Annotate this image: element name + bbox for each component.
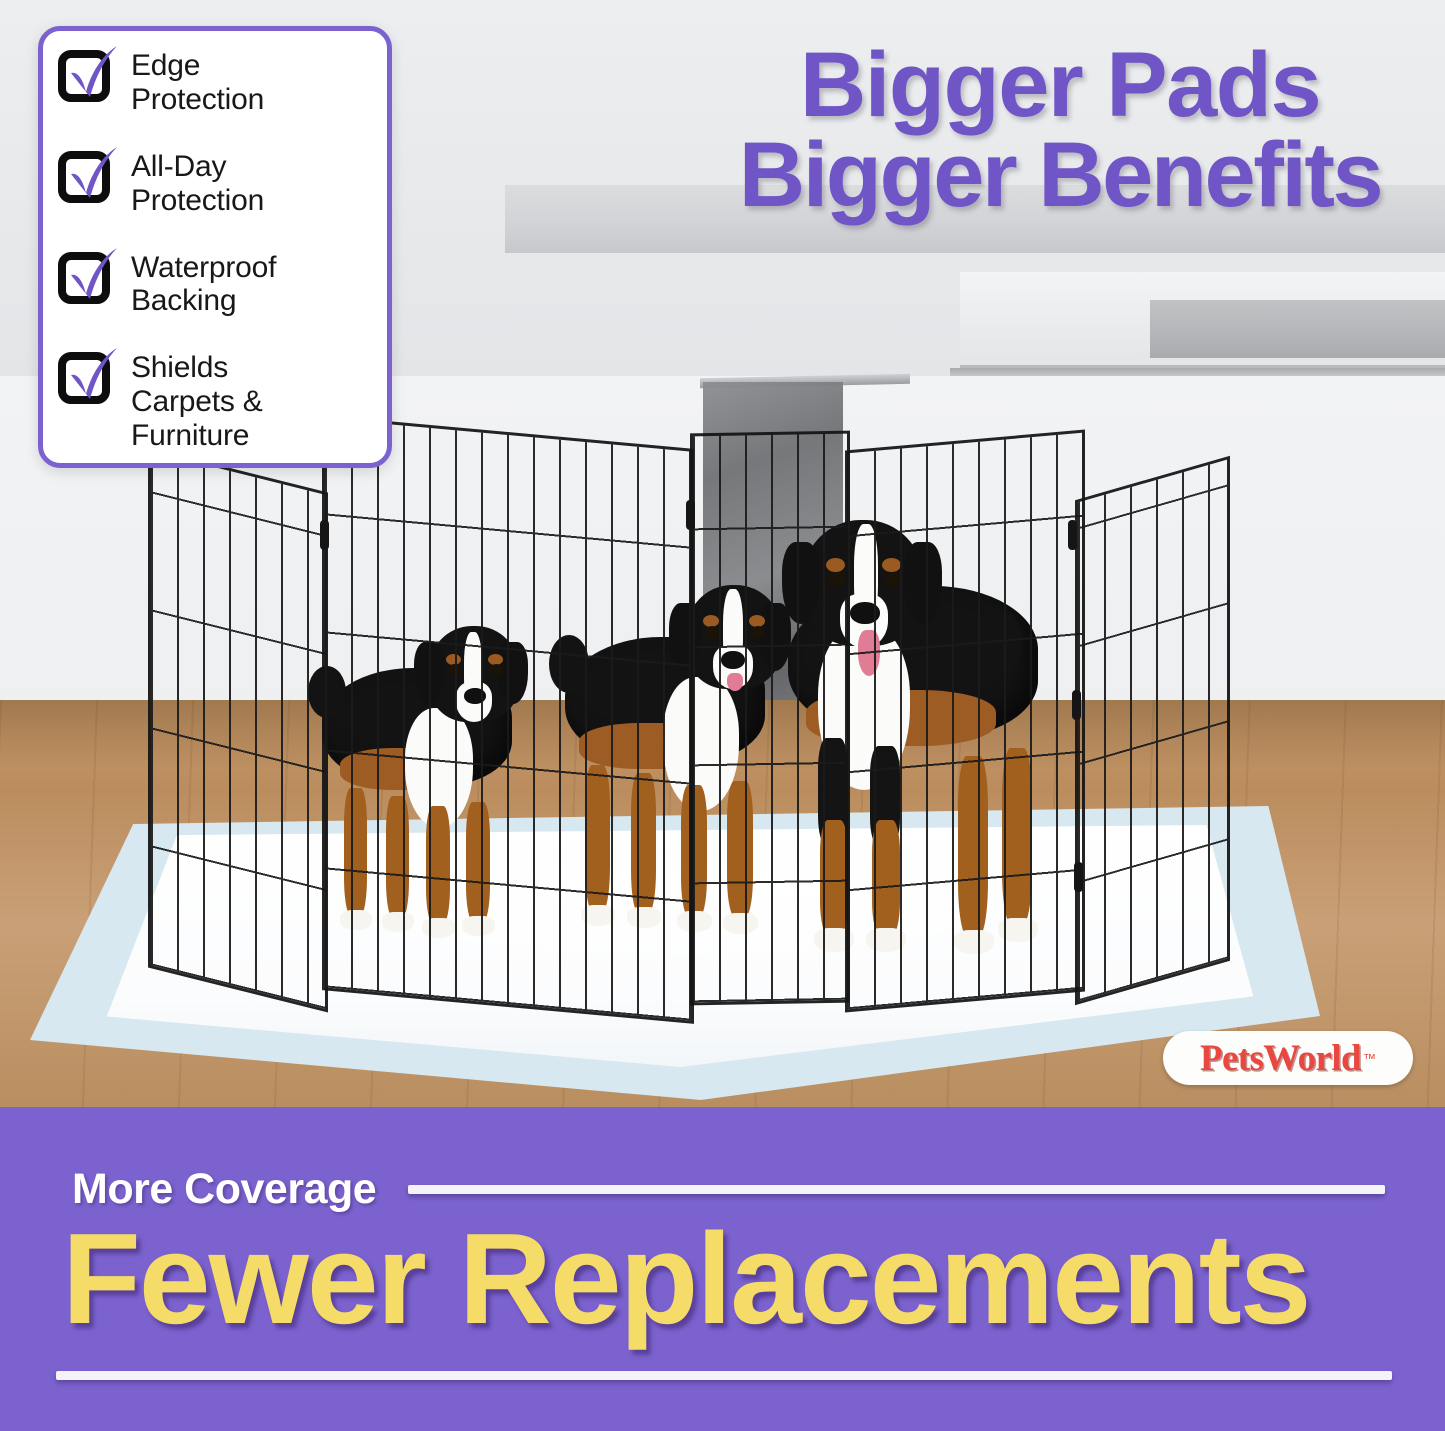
playpen-panel-5 <box>1075 456 1230 1005</box>
checkbox-check-icon <box>61 351 117 407</box>
playpen-panel-1 <box>148 448 328 1013</box>
brand-logo: PetsWorld™ <box>1163 1031 1413 1085</box>
feature-label: ShieldsCarpets &Furniture <box>131 349 263 453</box>
checkbox-check-icon <box>61 49 117 105</box>
playpen-hinge <box>320 520 329 550</box>
playpen-hinge <box>1074 862 1083 892</box>
banner-headline: Fewer Replacements <box>62 1215 1392 1344</box>
feature-list-card: EdgeProtection All-DayProtection Waterpr… <box>38 26 392 468</box>
playpen-hinge <box>686 500 695 530</box>
feature-label: WaterproofBacking <box>131 249 276 319</box>
headline-line-1: Bigger Pads <box>800 34 1320 136</box>
page-headline: Bigger Pads Bigger Benefits <box>700 40 1420 220</box>
checkbox-check-icon <box>61 251 117 307</box>
feature-label: All-DayProtection <box>131 148 264 218</box>
banner-rule-top <box>408 1185 1385 1194</box>
playpen-hinge <box>1072 690 1081 720</box>
playpen-panel-2 <box>322 415 694 1024</box>
playpen-panel-4 <box>845 430 1085 1013</box>
feature-item-all-day-protection: All-DayProtection <box>61 148 373 218</box>
checkbox-check-icon <box>61 150 117 206</box>
brand-logo-text: PetsWorld <box>1200 1037 1361 1080</box>
feature-label: EdgeProtection <box>131 47 264 117</box>
trademark-symbol: ™ <box>1363 1051 1376 1066</box>
bottom-promo-banner: More Coverage Fewer Replacements <box>0 1107 1445 1431</box>
feature-item-waterproof-backing: WaterproofBacking <box>61 249 373 319</box>
feature-item-edge-protection: EdgeProtection <box>61 47 373 117</box>
banner-rule-bottom <box>56 1371 1392 1380</box>
headline-line-2: Bigger Benefits <box>700 130 1420 220</box>
playpen-hinge <box>1068 520 1077 550</box>
playpen-panel-3 <box>690 431 850 1006</box>
feature-item-shields-carpets-furniture: ShieldsCarpets &Furniture <box>61 349 373 453</box>
